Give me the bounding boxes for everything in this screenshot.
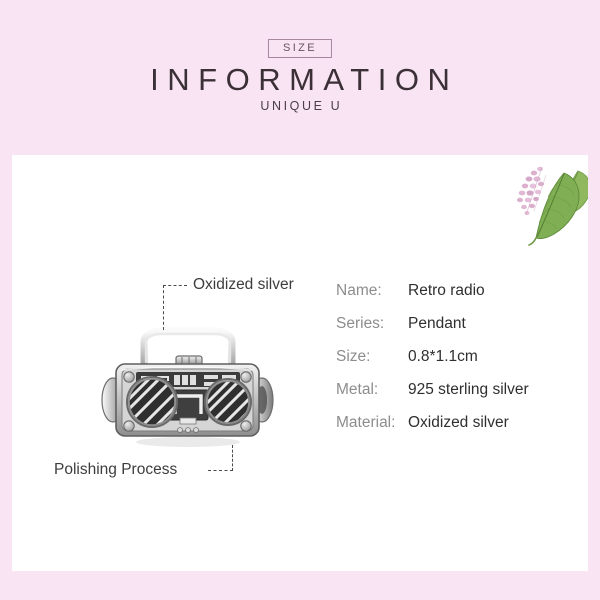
spec-label-metal: Metal: [336, 381, 408, 399]
spec-row-size: Size: 0.8*1.1cm [336, 348, 581, 381]
spec-row-metal: Metal: 925 sterling silver [336, 381, 581, 414]
spec-label-size: Size: [336, 348, 408, 366]
callout-bottom-leader-horizontal [208, 470, 233, 471]
spec-value-name: Retro radio [408, 282, 485, 300]
callout-top-leader-horizontal [163, 285, 187, 286]
page-subtitle: UNIQUE U [0, 99, 600, 113]
size-badge: SIZE [268, 39, 332, 58]
spec-value-size: 0.8*1.1cm [408, 348, 478, 366]
callout-top-leader-vertical [163, 285, 164, 330]
leaf-blossom-ornament [512, 155, 588, 247]
page-title: INFORMATION [0, 62, 600, 98]
spec-label-material: Material: [336, 414, 408, 432]
callout-label-polishing-process: Polishing Process [54, 461, 177, 479]
spec-label-series: Series: [336, 315, 408, 333]
information-card: Oxidized silver Polishing Process Name: … [12, 155, 588, 571]
spec-value-metal: 925 sterling silver [408, 381, 529, 399]
product-spec-list: Name: Retro radio Series: Pendant Size: … [336, 282, 581, 447]
retro-boombox-charm [100, 320, 275, 450]
spec-row-name: Name: Retro radio [336, 282, 581, 315]
spec-row-series: Series: Pendant [336, 315, 581, 348]
spec-value-series: Pendant [408, 315, 466, 333]
spec-label-name: Name: [336, 282, 408, 300]
callout-bottom-leader-vertical [232, 445, 233, 471]
spec-row-material: Material: Oxidized silver [336, 414, 581, 447]
spec-value-material: Oxidized silver [408, 414, 509, 432]
page-header: SIZE INFORMATION UNIQUE U [0, 0, 600, 155]
callout-label-oxidized-silver: Oxidized silver [193, 276, 294, 294]
